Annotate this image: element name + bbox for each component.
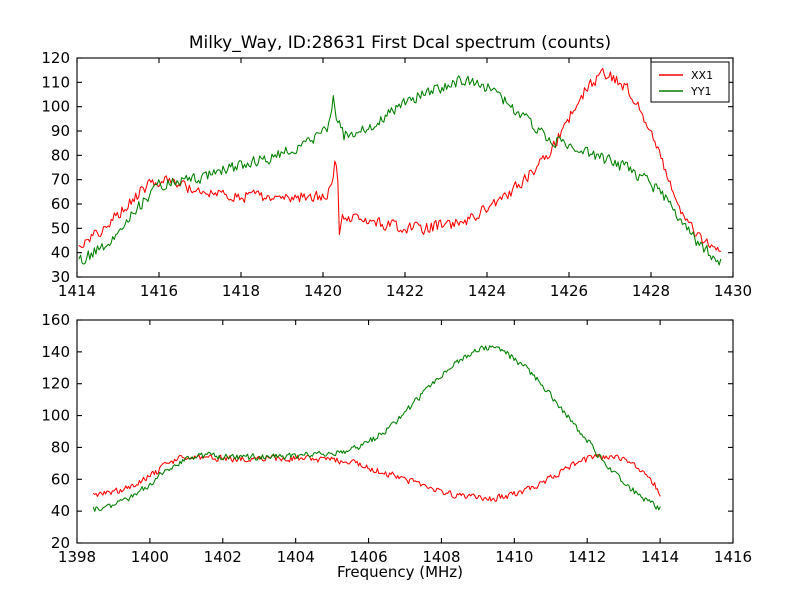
y-tick-label: 60 [51,195,70,213]
x-tick-label: 1428 [632,282,670,300]
y-tick-label: 60 [51,470,70,488]
x-tick-label: 1420 [304,282,342,300]
y-tick-label: 100 [41,407,70,425]
y-tick-label: 70 [51,171,70,189]
figure-canvas: Milky_Way, ID:28631 First Dcal spectrum … [0,0,800,600]
axes-frame [77,320,733,543]
x-tick-label: 1416 [140,282,178,300]
y-tick-label: 50 [51,219,70,237]
y-tick-label: 160 [41,311,70,329]
y-tick-label: 80 [51,146,70,164]
y-tick-label: 140 [41,343,70,361]
series-line-xx1 [93,454,660,501]
y-tick-label: 40 [51,502,70,520]
x-tick-label: 1418 [222,282,260,300]
legend-label-yy1: YY1 [690,85,711,98]
y-tick-label: 20 [51,534,70,552]
y-tick-label: 90 [51,122,70,140]
x-tick-label: 1424 [468,282,506,300]
series-line-yy1 [79,76,721,265]
x-tick-label: 1426 [550,282,588,300]
axes-frame [77,58,733,277]
legend-box [651,62,729,102]
y-tick-label: 30 [51,268,70,286]
series-line-xx1 [79,68,721,251]
panel-bottom-panel: 1398140014021404140614081410141214141416… [41,311,752,566]
plot-svg: 1414141614181420142214241426142814303040… [0,0,800,600]
series-line-yy1 [93,346,660,512]
x-tick-label: 1430 [714,282,752,300]
y-tick-label: 80 [51,438,70,456]
y-tick-label: 120 [41,375,70,393]
y-tick-label: 110 [41,73,70,91]
x-axis-label: Frequency (MHz) [0,563,800,581]
panel-top-panel: 1414141614181420142214241426142814303040… [41,49,752,300]
page-title: Milky_Way, ID:28631 First Dcal spectrum … [0,33,800,53]
legend-label-xx1: XX1 [691,69,713,82]
y-tick-label: 40 [51,244,70,262]
y-tick-label: 100 [41,98,70,116]
x-tick-label: 1422 [386,282,424,300]
legend: XX1YY1 [651,62,729,102]
